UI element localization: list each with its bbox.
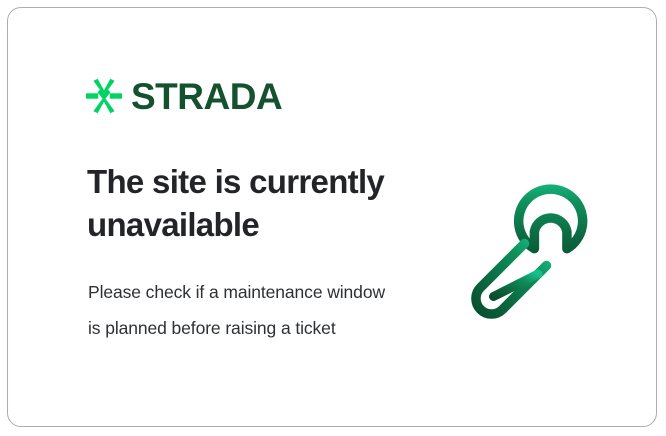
brand-wordmark: STRADA xyxy=(131,78,282,115)
brand-logo: STRADA xyxy=(86,77,282,114)
page-description: Please check if a maintenance window is … xyxy=(88,274,398,346)
error-page: STRADA The site is currently unavailable… xyxy=(0,0,666,436)
page-title: The site is currently unavailable xyxy=(87,160,427,246)
status-card: STRADA The site is currently unavailable… xyxy=(7,7,657,427)
strada-asterisk-icon xyxy=(86,78,122,114)
